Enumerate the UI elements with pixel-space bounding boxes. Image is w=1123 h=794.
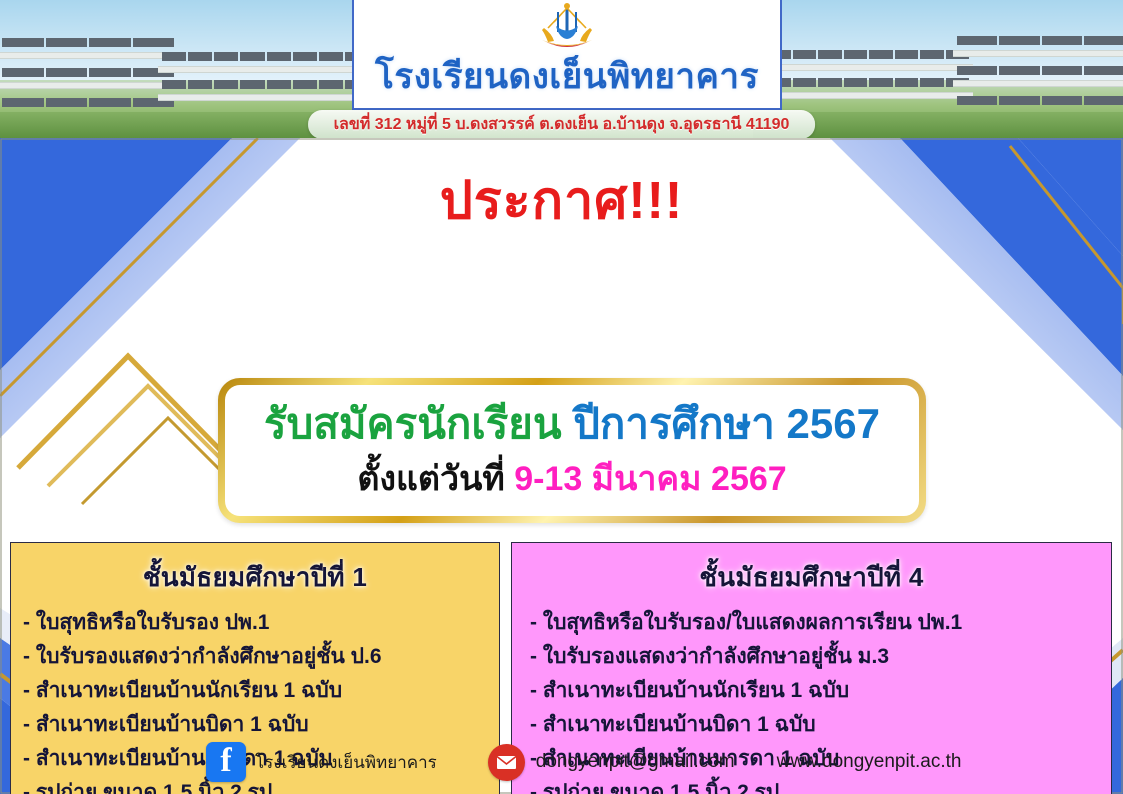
headline-line-2: ตั้งแต่วันที่ 9-13 มีนาคม 2567	[357, 457, 786, 503]
list-item: - สำเนาทะเบียนบ้านนักเรียน 1 ฉบับ	[524, 674, 1099, 708]
facebook-page-label: โรงเรียนดงเย็นพิทยาคาร	[255, 749, 437, 776]
list-item: - ใบสุทธิหรือใบรับรอง/ใบแสดงผลการเรียน ป…	[524, 606, 1099, 640]
school-address-pill: เลขที่ 312 หมู่ที่ 5 บ.ดงสวรรค์ ต.ดงเย็น…	[308, 110, 816, 138]
email-address[interactable]: dongyenpit@gmail.com	[536, 751, 735, 773]
list-item: - ใบรับรองแสดงว่ากำลังศึกษาอยู่ชั้น ป.6	[23, 640, 487, 674]
school-name: โรงเรียนดงเย็นพิทยาคาร	[375, 49, 759, 104]
announcement-title: ประกาศ!!!	[0, 158, 1123, 241]
admission-label: รับสมัครนักเรียน	[264, 400, 562, 447]
facebook-icon[interactable]	[206, 742, 246, 782]
school-identity-box: โรงเรียนดงเย็นพิทยาคาร	[352, 0, 782, 110]
header-banner: โรงเรียนดงเย็นพิทยาคาร เลขที่ 312 หมู่ที…	[0, 0, 1123, 138]
building-block	[763, 36, 973, 118]
panel-m1-title: ชั้นมัธยมศึกษาปีที่ 1	[23, 557, 487, 598]
panel-m4-title: ชั้นมัธยมศึกษาปีที่ 4	[524, 557, 1099, 598]
list-item: - ใบสุทธิหรือใบรับรอง ปพ.1	[23, 606, 487, 640]
list-item: - สำเนาทะเบียนบ้านนักเรียน 1 ฉบับ	[23, 674, 487, 708]
website-url[interactable]: www.dongyenpit.ac.th	[777, 751, 962, 773]
school-emblem-icon	[536, 2, 598, 52]
building-block	[953, 16, 1123, 118]
building-block	[0, 20, 178, 118]
headline-line-1: รับสมัครนักเรียน ปีการศึกษา 2567	[264, 398, 880, 451]
contact-footer: โรงเรียนดงเย็นพิทยาคาร dongyenpit@gmail.…	[0, 730, 1123, 794]
building-block	[158, 38, 373, 118]
school-address: เลขที่ 312 หมู่ที่ 5 บ.ดงสวรรค์ ต.ดงเย็น…	[334, 116, 790, 133]
school-building-photo-left	[0, 0, 360, 138]
envelope-glyph	[496, 755, 517, 770]
list-item: - ใบรับรองแสดงว่ากำลังศึกษาอยู่ชั้น ม.3	[524, 640, 1099, 674]
headline-box: รับสมัครนักเรียน ปีการศึกษา 2567 ตั้งแต่…	[218, 378, 926, 523]
email-envelope-icon[interactable]	[488, 744, 525, 781]
date-prefix-label: ตั้งแต่วันที่	[357, 460, 504, 498]
date-range-label: 9-13 มีนาคม 2567	[514, 460, 786, 498]
academic-year-label: ปีการศึกษา 2567	[573, 400, 880, 447]
poster-body: ประกาศ!!! รับสมัครนักเรียน ปีการศึกษา 25…	[0, 138, 1123, 794]
